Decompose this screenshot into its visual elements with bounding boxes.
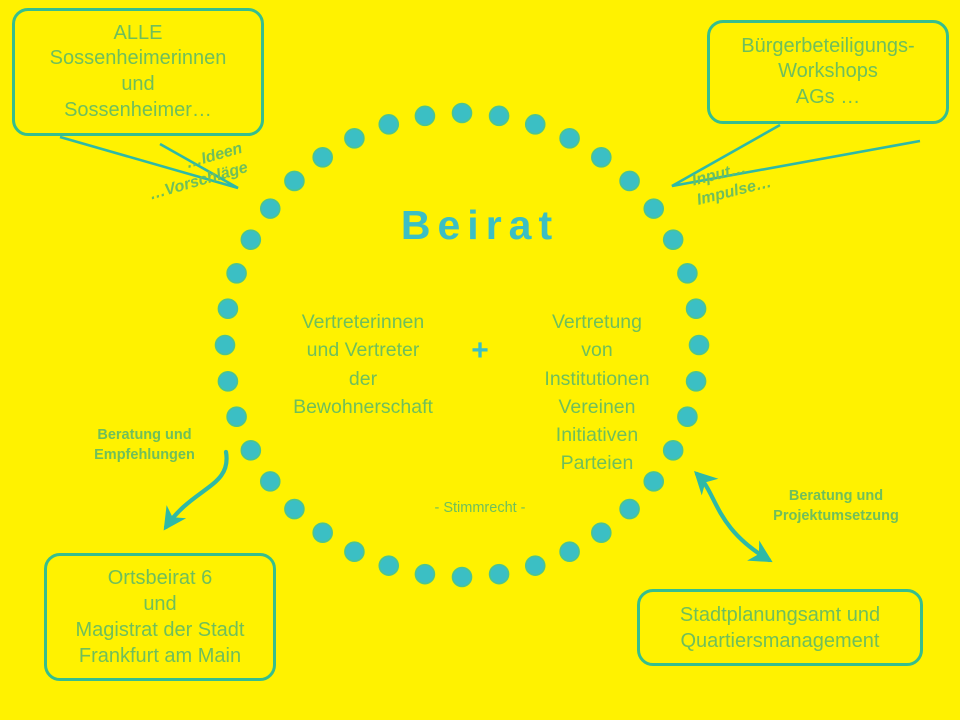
ring-dot [526,115,545,134]
ring-dot [490,565,509,584]
ring-dot [345,129,364,148]
ring-dot [227,264,246,283]
annotation-beratung-projektumsetzung: Beratung und Projektumsetzung [748,487,924,526]
ring-dot [560,129,579,148]
diagram-canvas: ALLE Sossenheimerinnen und Sossenheimer…… [0,0,960,720]
ring-dot [526,556,545,575]
ring-dot [415,106,434,125]
plus-icon: + [453,308,507,366]
ring-dot [379,115,398,134]
box-stadtplanung-text: Stadtplanungsamt und Quartiersmanagement [640,602,920,654]
bubble-workshops[interactable]: Bürgerbeteiligungs- Workshops AGs … [707,20,949,124]
ring-dot [216,336,235,355]
ring-dot [592,523,611,542]
annotation-ideen-vorschlaege: …Ideen …Vorschläge [124,139,250,211]
box-ortsbeirat[interactable]: Ortsbeirat 6 und Magistrat der Stadt Fra… [44,553,276,681]
ring-dot [379,556,398,575]
box-ortsbeirat-text: Ortsbeirat 6 und Magistrat der Stadt Fra… [47,565,273,669]
ring-dot [490,106,509,125]
bubble-citizens[interactable]: ALLE Sossenheimerinnen und Sossenheimer… [12,8,264,136]
ring-dot [620,171,639,190]
beirat-right-column: Vertretung von Institutionen Vereinen In… [507,308,687,478]
page-title: Beirat [0,202,960,249]
ring-dot [218,372,237,391]
annotation-input-impulse: Input… Impulse… [690,141,826,211]
ring-dot [227,407,246,426]
ring-dot [453,104,472,123]
beirat-left-column: Vertreterinnen und Vertreter der Bewohne… [273,308,453,421]
annotation-beratung-empfehlungen: Beratung und Empfehlungen [72,426,217,465]
bubble-citizens-text: ALLE Sossenheimerinnen und Sossenheimer… [15,21,261,123]
box-stadtplanung[interactable]: Stadtplanungsamt und Quartiersmanagement [637,589,923,666]
ring-dot [592,148,611,167]
beirat-composition: Vertreterinnen und Vertreter der Bewohne… [255,308,705,478]
ring-dot [453,568,472,587]
ring-dot [678,264,697,283]
ring-dot [313,523,332,542]
ring-dot [218,299,237,318]
ring-dot [560,542,579,561]
ring-dot [313,148,332,167]
ring-dot [285,171,304,190]
ring-dot [345,542,364,561]
ring-dot [415,565,434,584]
bubble-workshops-text: Bürgerbeteiligungs- Workshops AGs … [710,34,946,111]
